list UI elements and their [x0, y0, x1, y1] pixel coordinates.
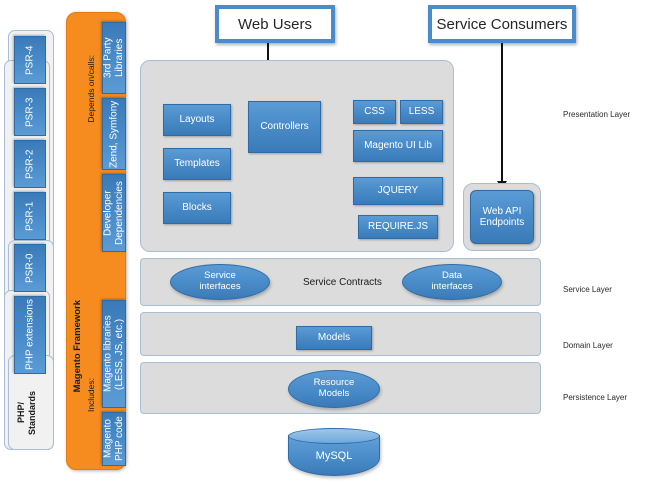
psr-1-box: PSR-1: [14, 192, 46, 240]
magento-libraries-box: Magento libraries (LESS, JS, etc.): [102, 300, 126, 408]
mysql-label-wrap: MySQL: [288, 435, 380, 476]
resource-models-label: Resource Models: [314, 378, 355, 400]
service-interfaces-label: Service interfaces: [199, 271, 240, 293]
actor-web-users: Web Users: [215, 5, 335, 43]
psr-2-label: PSR-2: [24, 149, 36, 178]
data-interfaces-line1: Data: [442, 270, 462, 281]
models-box: Models: [296, 326, 372, 350]
framework-includes-label: Includes:: [86, 378, 96, 412]
psr-4-box: PSR-4: [14, 36, 46, 84]
css-label: CSS: [364, 106, 385, 118]
psr-3-label: PSR-3: [24, 97, 36, 126]
service-interfaces-ellipse: Service interfaces: [170, 264, 270, 300]
third-party-libraries-label: 3rd Party Libraries: [103, 23, 126, 93]
mysql-label: MySQL: [316, 450, 353, 462]
php-standards-label-line2: Standards: [27, 391, 37, 435]
psr-2-box: PSR-2: [14, 140, 46, 188]
layouts-box: Layouts: [163, 104, 231, 136]
jquery-label: JQUERY: [378, 185, 418, 197]
architecture-diagram: Web Users Service Consumers PSR-4 PSR-3 …: [0, 0, 654, 483]
requirejs-label: REQUIRE.JS: [368, 221, 428, 233]
psr-0-label: PSR-0: [24, 253, 36, 282]
magento-framework-title: Magento Framework: [72, 300, 83, 392]
resource-models-line1: Resource: [314, 377, 355, 388]
less-label: LESS: [409, 106, 435, 118]
domain-layer-label: Domain Layer: [563, 341, 613, 350]
framework-depends-label: Depends on/calls:: [86, 55, 96, 123]
presentation-layer-label: Presentation Layer: [563, 110, 630, 119]
service-interfaces-line2: interfaces: [199, 281, 240, 292]
data-interfaces-line2: interfaces: [431, 281, 472, 292]
psr-0-box: PSR-0: [14, 244, 46, 292]
mysql-database-cylinder: MySQL: [288, 428, 380, 476]
models-label: Models: [318, 332, 350, 344]
php-extensions-box: PHP extensions: [14, 296, 46, 374]
templates-label: Templates: [174, 158, 220, 170]
zend-symfony-label: Zend, Symfony: [108, 100, 120, 167]
web-api-line2: Endpoints: [480, 217, 524, 228]
magento-libraries-label: Magento libraries (LESS, JS, etc.): [103, 301, 126, 407]
web-api-endpoints-label: Web API Endpoints: [480, 206, 524, 229]
data-interfaces-label: Data interfaces: [431, 271, 472, 293]
actor-service-consumers: Service Consumers: [428, 5, 576, 43]
magento-php-code-box: Magento PHP code: [102, 412, 126, 466]
psr-4-label: PSR-4: [24, 45, 36, 74]
web-api-endpoints-box: Web API Endpoints: [470, 190, 534, 244]
magento-php-code-label: Magento PHP code: [103, 413, 126, 465]
resource-models-line2: Models: [319, 388, 350, 399]
php-extensions-label: PHP extensions: [24, 300, 36, 371]
controllers-box: Controllers: [248, 101, 321, 153]
third-party-libraries-box: 3rd Party Libraries: [102, 22, 126, 94]
psr-3-box: PSR-3: [14, 88, 46, 136]
actor-service-consumers-label: Service Consumers: [437, 16, 568, 33]
resource-models-ellipse: Resource Models: [288, 370, 380, 408]
web-api-line1: Web API: [483, 206, 522, 217]
service-contracts-label: Service Contracts: [303, 277, 382, 288]
data-interfaces-ellipse: Data interfaces: [402, 264, 502, 300]
templates-box: Templates: [163, 148, 231, 180]
php-standards-label: PHP/ Standards: [16, 385, 44, 440]
psr-1-label: PSR-1: [24, 201, 36, 230]
actor-web-users-label: Web Users: [238, 16, 312, 33]
controllers-label: Controllers: [260, 121, 308, 133]
zend-symfony-box: Zend, Symfony: [102, 98, 126, 170]
less-box: LESS: [400, 100, 443, 124]
css-box: CSS: [353, 100, 396, 124]
magento-ui-lib-box: Magento UI Lib: [353, 130, 443, 162]
persistence-layer-label: Persistence Layer: [563, 393, 627, 402]
arrow-service-consumers-line: [501, 43, 503, 183]
php-standards-label-line1: PHP/: [16, 402, 26, 423]
layouts-label: Layouts: [179, 114, 214, 126]
developer-dependencies-label: Developer Dependencies: [103, 175, 126, 251]
jquery-box: JQUERY: [353, 177, 443, 205]
service-layer-label: Service Layer: [563, 285, 612, 294]
magento-ui-lib-label: Magento UI Lib: [364, 140, 432, 152]
blocks-box: Blocks: [163, 192, 231, 224]
blocks-label: Blocks: [182, 202, 211, 214]
developer-dependencies-box: Developer Dependencies: [102, 174, 126, 252]
requirejs-box: REQUIRE.JS: [358, 215, 438, 239]
service-interfaces-line1: Service: [204, 270, 236, 281]
